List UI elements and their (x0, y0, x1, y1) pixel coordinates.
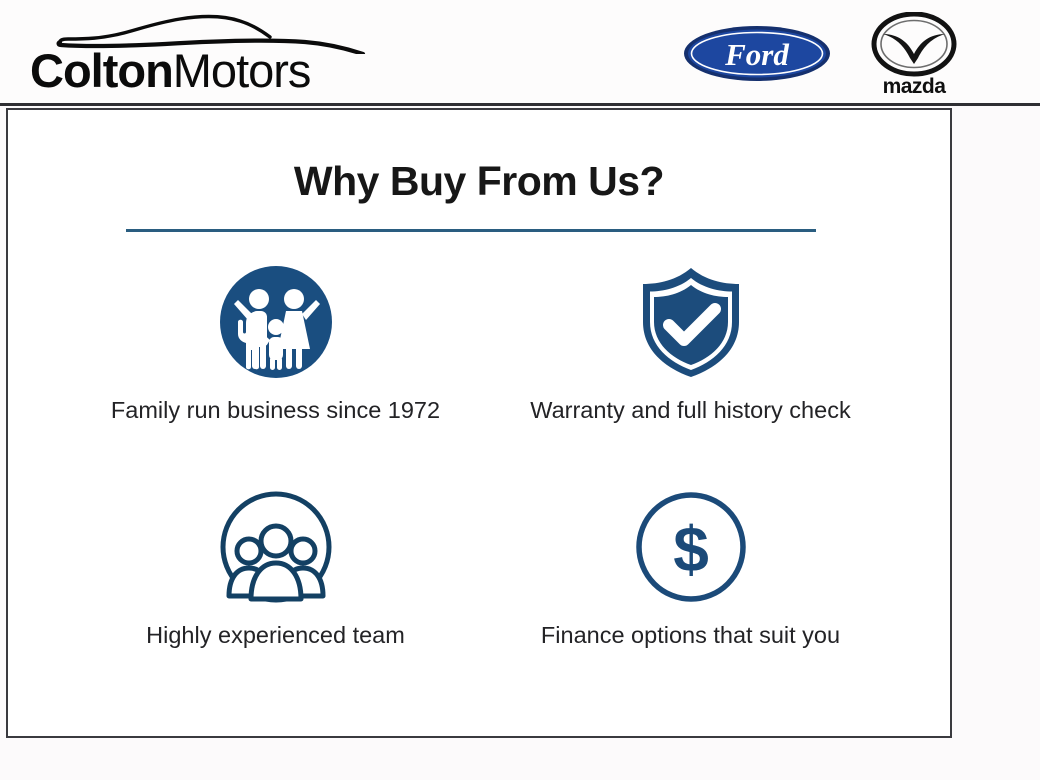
mazda-wordmark: mazda (883, 75, 947, 97)
page-title: Why Buy From Us? (8, 158, 950, 205)
feature-label: Warranty and full history check (526, 394, 856, 427)
header-divider (0, 103, 1040, 106)
feature-item-family: Family run business since 1972 (68, 260, 483, 485)
feature-label: Family run business since 1972 (111, 394, 441, 427)
mazda-logo[interactable]: mazda (868, 12, 960, 97)
why-buy-card: Why Buy From Us? (6, 108, 952, 738)
colton-motors-logo[interactable]: ColtonMotors (30, 12, 380, 100)
shield-check-icon (633, 264, 749, 380)
team-people-icon (218, 489, 334, 605)
brand-name-primary: Colton (30, 44, 173, 97)
title-divider (126, 229, 816, 232)
family-icon (218, 264, 334, 380)
feature-label: Highly experienced team (111, 619, 441, 652)
feature-item-warranty: Warranty and full history check (483, 260, 898, 485)
feature-label: Finance options that suit you (526, 619, 856, 652)
ford-wordmark: Ford (724, 37, 789, 72)
svg-text:$: $ (673, 513, 709, 585)
ford-logo[interactable]: Ford (683, 25, 831, 82)
feature-grid: Family run business since 1972 Warranty … (68, 260, 898, 710)
feature-item-team: Highly experienced team (68, 485, 483, 710)
brand-name-secondary: Motors (173, 44, 311, 97)
feature-item-finance: $ Finance options that suit you (483, 485, 898, 710)
dollar-circle-icon: $ (633, 489, 749, 605)
brand-wordmark: ColtonMotors (30, 42, 380, 100)
page-header: ColtonMotors Ford mazda (0, 0, 1040, 105)
